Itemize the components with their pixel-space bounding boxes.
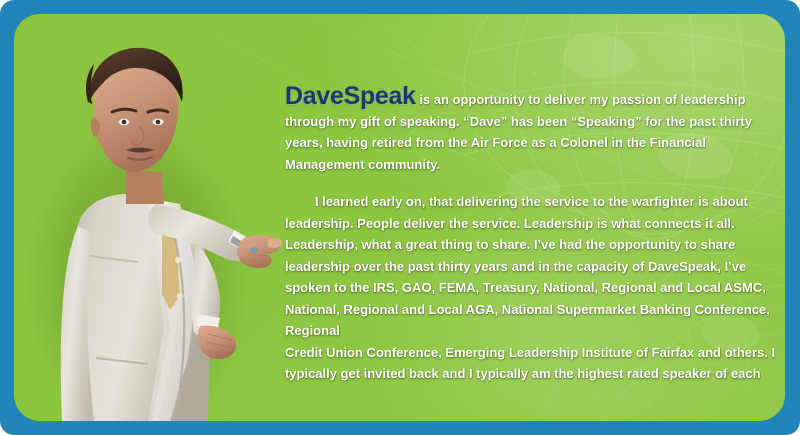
- banner-copy: DaveSpeak is an opportunity to deliver m…: [285, 86, 781, 385]
- speaker-pointing-photo: [20, 28, 282, 421]
- brand-name: DaveSpeak: [285, 82, 416, 110]
- second-paragraph: I learned early on, that delivering the …: [285, 191, 781, 385]
- second-paragraph-text-a: I learned early on, that delivering the …: [285, 194, 770, 338]
- lead-paragraph: DaveSpeak is an opportunity to deliver m…: [285, 86, 781, 175]
- green-content-panel: DaveSpeak is an opportunity to deliver m…: [14, 14, 785, 421]
- davespeak-banner: DaveSpeak is an opportunity to deliver m…: [0, 0, 800, 435]
- second-paragraph-text-b: Credit Union Conference, Emerging Leader…: [285, 345, 775, 382]
